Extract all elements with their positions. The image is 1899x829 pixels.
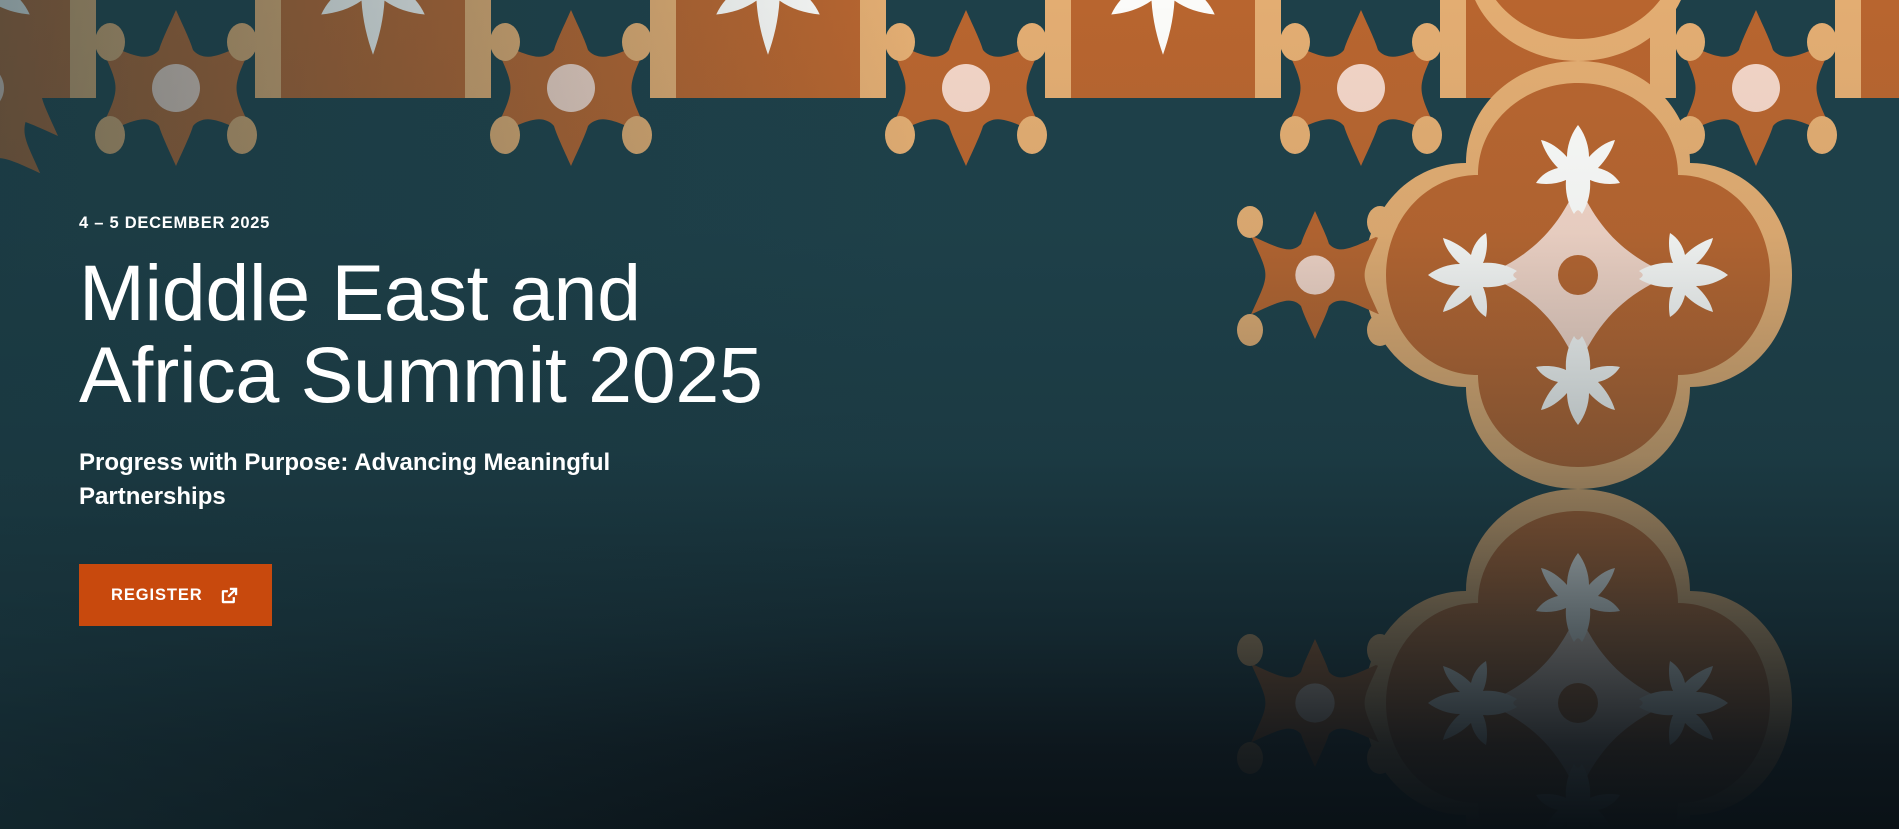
right-ornament-column — [1237, 0, 1792, 829]
register-button-label: REGISTER — [111, 587, 203, 604]
external-link-icon — [219, 585, 240, 606]
page-title: Middle East and Africa Summit 2025 — [79, 252, 999, 416]
hero-content: 4 – 5 DECEMBER 2025 Middle East and Afri… — [0, 0, 999, 626]
event-tagline: Progress with Purpose: Advancing Meaning… — [79, 446, 719, 514]
register-button[interactable]: REGISTER — [79, 564, 272, 626]
summit-hero-banner: 4 – 5 DECEMBER 2025 Middle East and Afri… — [0, 0, 1899, 829]
cta-container: REGISTER — [79, 564, 999, 626]
event-date: 4 – 5 DECEMBER 2025 — [79, 214, 999, 234]
